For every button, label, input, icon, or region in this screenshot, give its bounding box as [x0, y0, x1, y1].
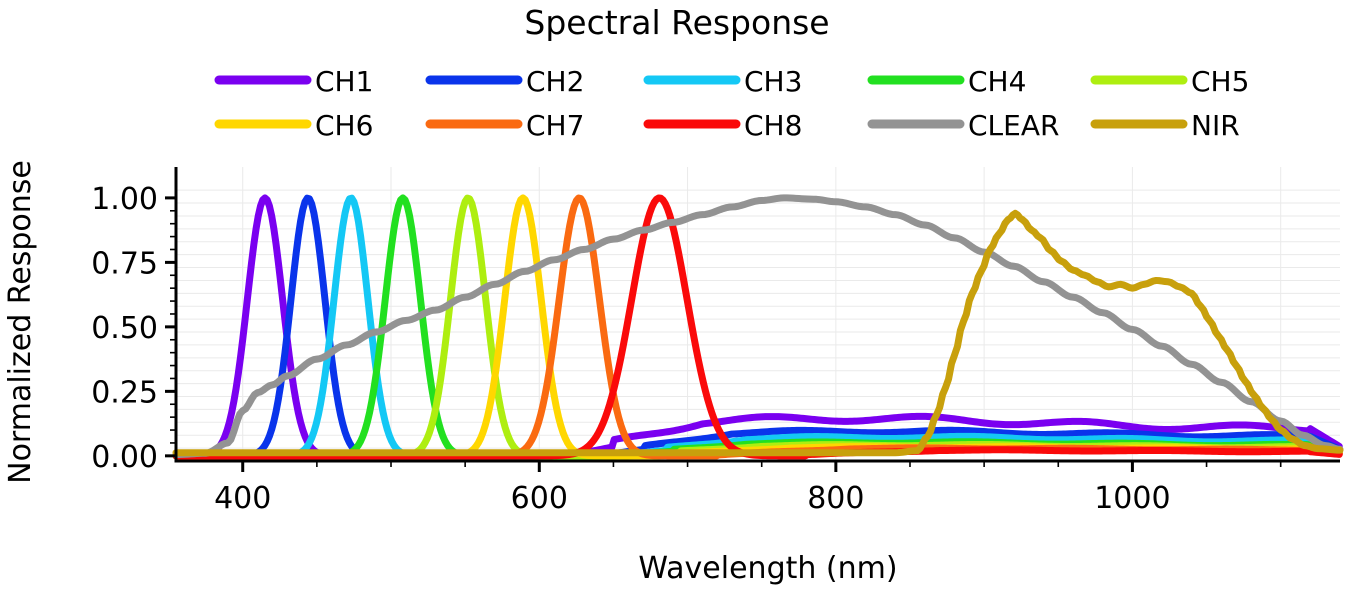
- x-tick-label: 600: [511, 481, 568, 516]
- y-axis-label: Normalized Response: [3, 160, 38, 484]
- spectral-response-chart: Spectral Response CH1CH2CH3CH4CH5CH6CH7C…: [0, 0, 1354, 593]
- y-tick-label: 0.75: [91, 246, 158, 281]
- legend-label-nir: NIR: [1191, 109, 1240, 142]
- x-tick-label: 1000: [1094, 481, 1170, 516]
- legend-label-ch1: CH1: [315, 65, 373, 98]
- chart-title: Spectral Response: [524, 3, 829, 42]
- chart-page: Spectral Response CH1CH2CH3CH4CH5CH6CH7C…: [0, 0, 1354, 593]
- legend-label-ch8: CH8: [744, 109, 802, 142]
- legend-label-ch6: CH6: [315, 109, 373, 142]
- x-axis-label: Wavelength (nm): [638, 551, 897, 586]
- legend-label-ch4: CH4: [968, 65, 1026, 98]
- y-tick-label: 0.00: [91, 440, 158, 475]
- legend-label-clear: CLEAR: [968, 109, 1059, 142]
- y-tick-label: 0.50: [91, 311, 158, 346]
- legend-label-ch7: CH7: [526, 109, 584, 142]
- legend-label-ch2: CH2: [526, 65, 584, 98]
- y-tick-label: 0.25: [91, 375, 158, 410]
- x-tick-label: 800: [807, 481, 864, 516]
- y-tick-label: 1.00: [91, 182, 158, 217]
- legend-label-ch5: CH5: [1191, 65, 1249, 98]
- x-tick-label: 400: [214, 481, 271, 516]
- legend-label-ch3: CH3: [744, 65, 802, 98]
